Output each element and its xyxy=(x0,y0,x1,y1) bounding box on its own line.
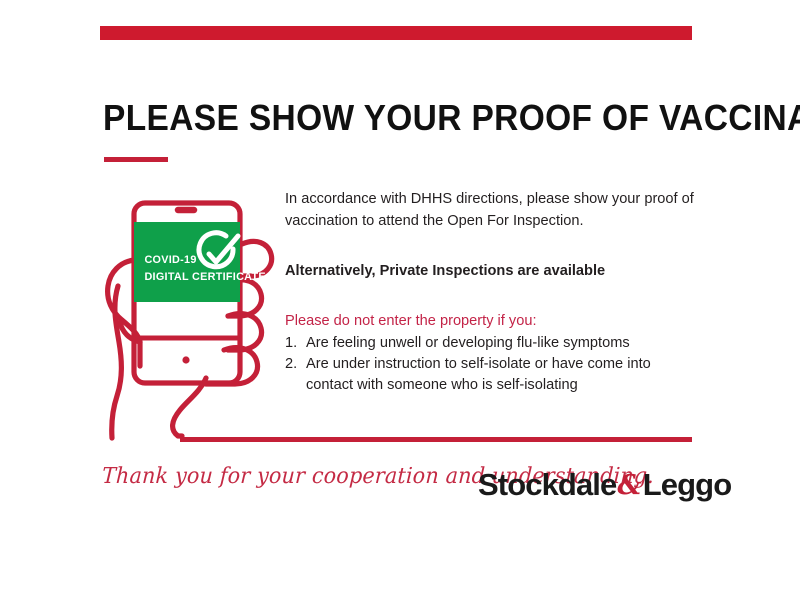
little-finger xyxy=(206,348,258,384)
phone-home-button xyxy=(182,356,189,363)
list-item: 1. Are feeling unwell or developing flu-… xyxy=(285,333,695,354)
certificate-line-2: DIGITAL CERTIFICATE xyxy=(144,271,265,283)
title-accent-dash xyxy=(104,157,168,162)
list-item-text: Are under instruction to self-isolate or… xyxy=(306,356,651,393)
bottom-red-rule xyxy=(180,437,692,442)
body-copy-column: In accordance with DHHS directions, plea… xyxy=(285,188,695,396)
page-title: PLEASE SHOW YOUR PROOF OF VACCINATION xyxy=(103,98,680,138)
warning-heading: Please do not enter the property if you: xyxy=(285,310,695,332)
ring-finger xyxy=(228,314,262,350)
hand-holding-phone-illustration: COVID-19 DIGITAL CERTIFICATE xyxy=(96,186,296,448)
top-red-bar xyxy=(100,26,692,40)
warning-list: 1. Are feeling unwell or developing flu-… xyxy=(285,333,695,396)
thank-you-script: Thank you for your cooperation and under… xyxy=(101,462,450,492)
stockdale-leggo-logo: Stockdale & Leggo xyxy=(478,468,731,504)
list-item: 2. Are under instruction to self-isolate… xyxy=(285,354,695,396)
list-item-text: Are feeling unwell or developing flu-lik… xyxy=(306,335,630,351)
logo-ampersand: & xyxy=(616,469,642,503)
poster-canvas: PLEASE SHOW YOUR PROOF OF VACCINATION xyxy=(0,0,800,600)
list-item-number: 1. xyxy=(285,333,297,354)
hand-heel xyxy=(173,378,206,436)
alternative-paragraph: Alternatively, Private Inspections are a… xyxy=(285,260,695,282)
logo-word-stockdale: Stockdale xyxy=(478,468,616,502)
certificate-line-1: COVID-19 xyxy=(144,254,196,266)
intro-paragraph: In accordance with DHHS directions, plea… xyxy=(285,188,695,232)
logo-word-leggo: Leggo xyxy=(643,468,732,502)
list-item-number: 2. xyxy=(285,354,297,375)
